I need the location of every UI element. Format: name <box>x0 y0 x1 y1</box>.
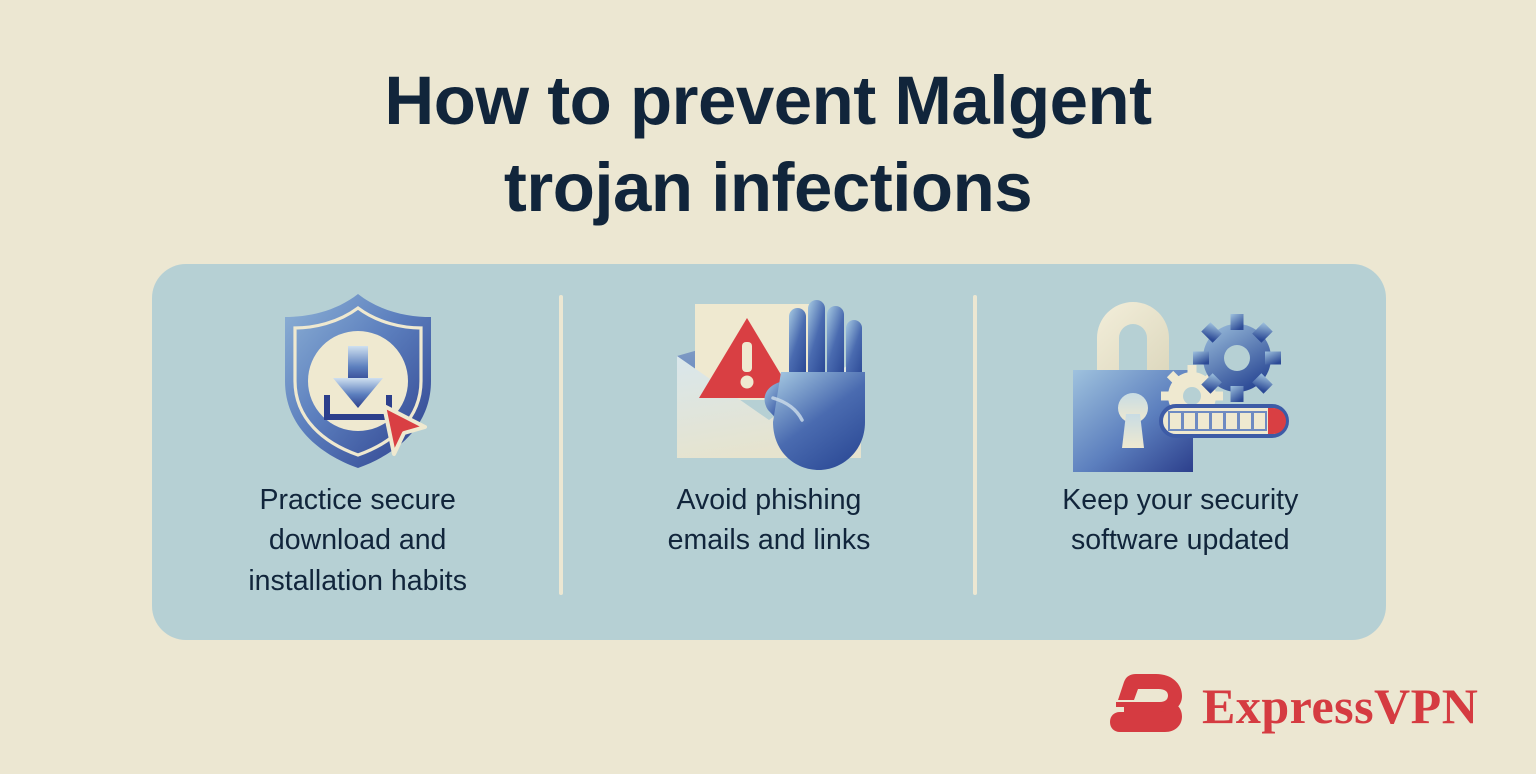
infographic-page: How to prevent Malgent trojan infections <box>0 0 1536 774</box>
page-title: How to prevent Malgent trojan infections <box>0 58 1536 232</box>
tip-caption-3: Keep your security software updated <box>1062 480 1298 561</box>
tip-column-1: Practice secure download and installatio… <box>152 264 563 640</box>
phishing-email-stop-hand-icon <box>563 286 974 476</box>
padlock-gears-progress-icon-column: Keep your security software updated <box>975 264 1386 640</box>
tips-card: Practice secure download and installatio… <box>152 264 1386 640</box>
tip-caption-1: Practice secure download and installatio… <box>248 480 467 601</box>
expressvpn-logo: ExpressVPN <box>1110 672 1478 739</box>
shield-download-cursor-icon <box>152 286 563 476</box>
padlock-gears-progress-icon <box>975 286 1386 476</box>
tip-column-2: Avoid phishing emails and links <box>563 264 974 640</box>
tip-caption-2: Avoid phishing emails and links <box>668 480 871 561</box>
expressvpn-e-mark-icon <box>1110 672 1188 739</box>
expressvpn-wordmark: ExpressVPN <box>1202 681 1478 731</box>
